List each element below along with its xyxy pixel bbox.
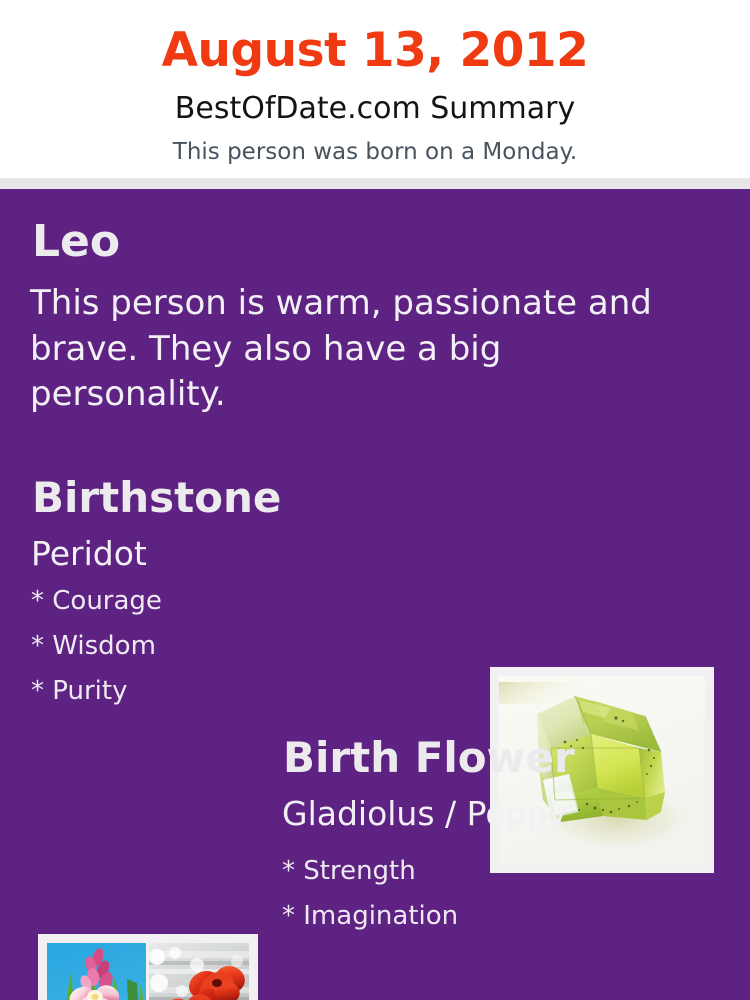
- zodiac-sign-name: Leo: [32, 220, 120, 264]
- page-title: August 13, 2012: [0, 0, 750, 74]
- birth-flower-trait-list: * Strength * Imagination: [282, 858, 458, 948]
- birth-flower-image: [47, 943, 249, 1000]
- zodiac-description: This person is warm, passionate and brav…: [30, 281, 690, 418]
- list-item: * Strength: [282, 858, 458, 884]
- header-divider: [0, 178, 750, 189]
- born-day-text: This person was born on a Monday.: [0, 124, 750, 164]
- list-item: * Courage: [31, 588, 162, 614]
- birth-flower-heading: Birth Flower: [283, 737, 575, 779]
- summary-card: August 13, 2012 BestOfDate.com Summary T…: [0, 0, 750, 1000]
- birthstone-name: Peridot: [31, 537, 147, 570]
- gladiolus-poppy-photo: [47, 943, 249, 1000]
- site-subtitle: BestOfDate.com Summary: [0, 74, 750, 124]
- list-item: * Imagination: [282, 903, 458, 929]
- list-item: * Wisdom: [31, 633, 162, 659]
- birthstone-trait-list: * Courage * Wisdom * Purity: [31, 588, 162, 723]
- content-panel: Leo This person is warm, passionate and …: [0, 189, 750, 1000]
- birth-flower-name: Gladiolus / Poppy: [282, 797, 567, 830]
- card-header: August 13, 2012 BestOfDate.com Summary T…: [0, 0, 750, 178]
- birthstone-heading: Birthstone: [32, 477, 281, 519]
- list-item: * Purity: [31, 678, 162, 704]
- birth-flower-image-frame: [38, 934, 258, 1000]
